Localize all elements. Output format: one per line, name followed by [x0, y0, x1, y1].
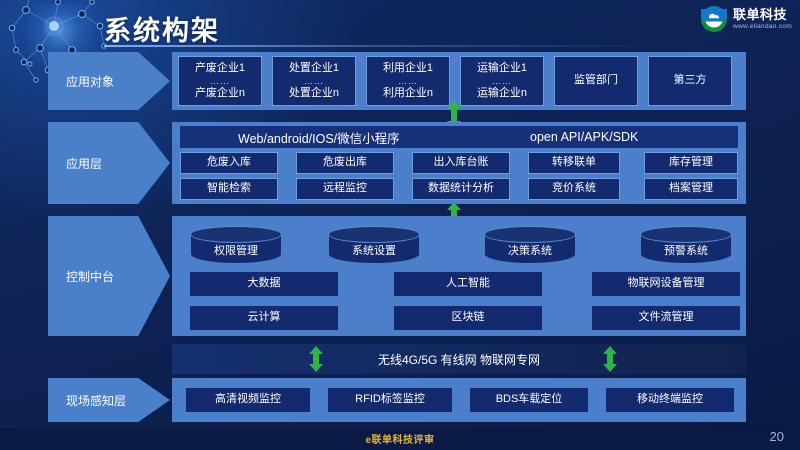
page-number: 20 — [770, 429, 784, 444]
cloud-logo-icon — [700, 5, 728, 33]
sensing-module-box[interactable]: 高清视频监控 — [186, 388, 310, 412]
platform-block[interactable]: 文件流管理 — [592, 306, 740, 330]
box-label: 第三方 — [674, 74, 707, 88]
sensing-label: 高清视频监控 — [215, 393, 281, 407]
enterprise-top-label: 产废企业1 — [195, 62, 245, 76]
enterprise-top-label: 利用企业1 — [383, 62, 433, 76]
module-box[interactable]: 数据统计分析 — [412, 178, 510, 200]
module-label: 远程监控 — [323, 182, 367, 196]
block-label: 人工智能 — [446, 277, 490, 291]
control-cylinder[interactable]: 权限管理 — [190, 226, 282, 264]
module-box[interactable]: 出入库台账 — [412, 152, 510, 174]
block-label: 物联网设备管理 — [628, 277, 705, 291]
regulator-box[interactable]: 监管部门 — [554, 56, 638, 106]
title-underline — [104, 45, 664, 47]
enterprise-group-box[interactable]: 利用企业1 …… 利用企业n — [366, 56, 450, 106]
module-box[interactable]: 库存管理 — [644, 152, 738, 174]
network-label: 无线4G/5G 有线网 物联网专网 — [378, 351, 540, 368]
channel-left-label: Web/android/IOS/微信小程序 — [238, 128, 400, 147]
third-party-box[interactable]: 第三方 — [648, 56, 732, 106]
enterprise-group-box[interactable]: 处置企业1 …… 处置企业n — [272, 56, 356, 106]
arrow-network-right-icon — [602, 346, 618, 372]
channel-right-label: open API/APK/SDK — [530, 130, 638, 144]
layer-label-field-sensing[interactable]: 现场感知层 — [48, 378, 170, 422]
ellipsis: …… — [492, 77, 512, 86]
chevron-label-text: 控制中台 — [66, 268, 114, 285]
chevron-label-text: 应用对象 — [66, 73, 114, 90]
enterprise-top-label: 运输企业1 — [477, 62, 527, 76]
sensing-label: RFID标签监控 — [355, 393, 425, 407]
control-cylinder[interactable]: 预警系统 — [640, 226, 732, 264]
ellipsis: …… — [210, 77, 230, 86]
module-label: 竞价系统 — [552, 182, 596, 196]
network-bar: 无线4G/5G 有线网 物联网专网 — [172, 344, 746, 374]
platform-block[interactable]: 云计算 — [190, 306, 338, 330]
platform-block[interactable]: 大数据 — [190, 272, 338, 296]
module-box[interactable]: 危废入库 — [180, 152, 278, 174]
block-label: 大数据 — [248, 277, 281, 291]
control-cylinder[interactable]: 决策系统 — [484, 226, 576, 264]
module-label: 库存管理 — [669, 156, 713, 170]
module-box[interactable]: 危废出库 — [296, 152, 394, 174]
layer-label-control-platform[interactable]: 控制中台 — [48, 216, 170, 336]
enterprise-group-box[interactable]: 运输企业1 …… 运输企业n — [460, 56, 544, 106]
cylinder-label: 决策系统 — [508, 233, 552, 258]
channel-strip: Web/android/IOS/微信小程序 open API/APK/SDK — [180, 126, 738, 148]
cylinder-label: 系统设置 — [352, 233, 396, 258]
module-box[interactable]: 远程监控 — [296, 178, 394, 200]
block-label: 区块链 — [452, 311, 485, 325]
sensing-module-box[interactable]: 移动终端监控 — [606, 388, 734, 412]
module-label: 危废入库 — [207, 156, 251, 170]
sensing-module-box[interactable]: RFID标签监控 — [328, 388, 452, 412]
module-label: 转移联单 — [552, 156, 596, 170]
platform-block[interactable]: 人工智能 — [394, 272, 542, 296]
module-label: 数据统计分析 — [428, 182, 494, 196]
enterprise-group-box[interactable]: 产废企业1 …… 产废企业n — [178, 56, 262, 106]
footer-watermark: e联单科技评审 — [365, 431, 434, 446]
cylinder-label: 预警系统 — [664, 233, 708, 258]
sensing-module-box[interactable]: BDS车载定位 — [470, 388, 588, 412]
sensing-label: BDS车载定位 — [496, 393, 563, 407]
module-label: 智能检索 — [207, 182, 251, 196]
cylinder-label: 权限管理 — [214, 233, 258, 258]
module-box[interactable]: 智能检索 — [180, 178, 278, 200]
ellipsis: …… — [398, 77, 418, 86]
platform-block[interactable]: 物联网设备管理 — [592, 272, 740, 296]
chevron-label-text: 现场感知层 — [66, 392, 126, 409]
arrow-network-left-icon — [308, 346, 324, 372]
layer-label-application-objects[interactable]: 应用对象 — [48, 52, 170, 110]
brand-logo: 联单科技 www.eliandan.com — [700, 5, 792, 33]
module-label: 出入库台账 — [434, 156, 489, 170]
module-label: 档案管理 — [669, 182, 713, 196]
slide-canvas: 系统构架 联单科技 www.eliandan.com 应用对象 应用层 控制中台… — [0, 0, 800, 450]
module-box[interactable]: 档案管理 — [644, 178, 738, 200]
enterprise-bottom-label: 运输企业n — [477, 87, 527, 101]
module-label: 危废出库 — [323, 156, 367, 170]
enterprise-top-label: 处置企业1 — [289, 62, 339, 76]
sensing-label: 移动终端监控 — [637, 393, 703, 407]
platform-block[interactable]: 区块链 — [394, 306, 542, 330]
block-label: 文件流管理 — [639, 311, 694, 325]
chevron-label-text: 应用层 — [66, 155, 102, 172]
brand-url: www.eliandan.com — [733, 24, 792, 31]
control-cylinder[interactable]: 系统设置 — [328, 226, 420, 264]
layer-label-application-layer[interactable]: 应用层 — [48, 122, 170, 204]
module-box[interactable]: 转移联单 — [528, 152, 620, 174]
enterprise-bottom-label: 产废企业n — [195, 87, 245, 101]
enterprise-bottom-label: 处置企业n — [289, 87, 339, 101]
module-box[interactable]: 竞价系统 — [528, 178, 620, 200]
brand-name: 联单科技 — [733, 8, 792, 21]
page-title: 系统构架 — [104, 9, 220, 48]
enterprise-bottom-label: 利用企业n — [383, 87, 433, 101]
ellipsis: …… — [304, 77, 324, 86]
block-label: 云计算 — [248, 311, 281, 325]
box-label: 监管部门 — [574, 74, 618, 88]
